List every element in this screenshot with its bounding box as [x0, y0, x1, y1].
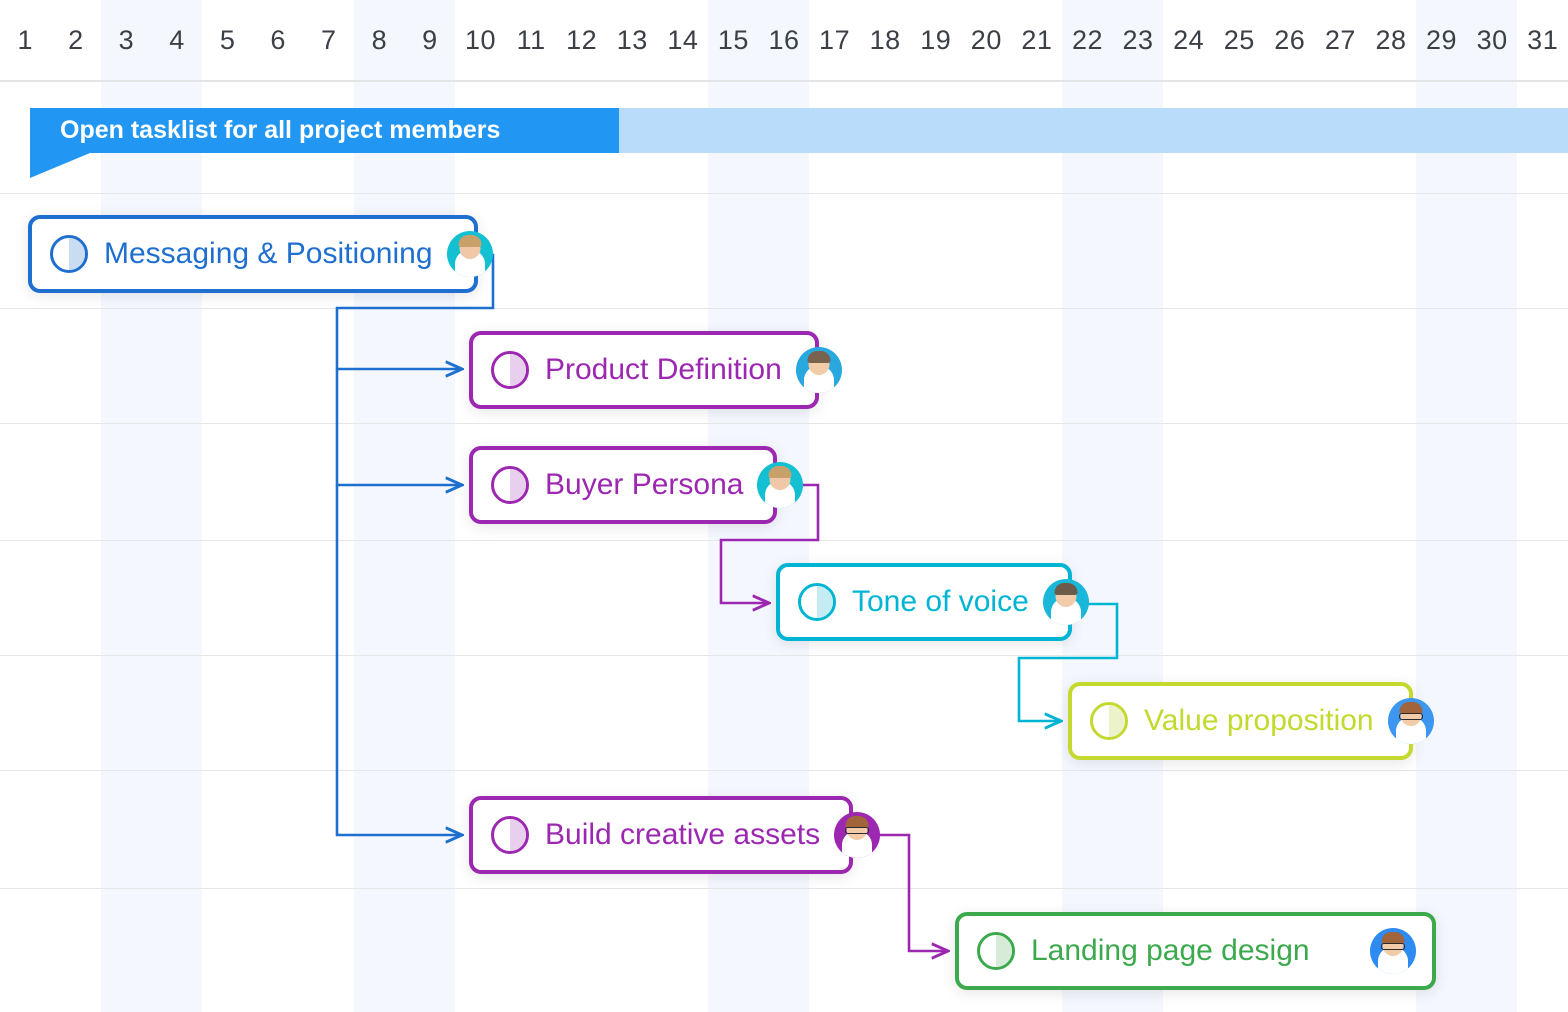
task-label: Landing page design	[1031, 934, 1356, 968]
progress-fill	[69, 238, 85, 270]
avatar-man-beard[interactable]	[1043, 579, 1089, 625]
progress-fill	[510, 354, 526, 386]
date-label-30[interactable]: 30	[1467, 0, 1518, 80]
progress-fill	[996, 935, 1012, 967]
avatar-glasses-icon	[1399, 713, 1423, 720]
task-bar-messaging-positioning[interactable]: Messaging & Positioning	[28, 215, 478, 293]
avatar-hair	[807, 351, 830, 363]
progress-circle-icon	[798, 583, 836, 621]
avatar-hair	[458, 235, 481, 247]
progress-circle-icon	[977, 932, 1015, 970]
date-label-12[interactable]: 12	[556, 0, 607, 80]
date-label-24[interactable]: 24	[1163, 0, 1214, 80]
avatar-glasses-icon	[1381, 943, 1405, 950]
row-divider-1	[0, 193, 1568, 194]
task-label: Product Definition	[545, 353, 782, 387]
date-label-27[interactable]: 27	[1315, 0, 1366, 80]
date-label-6[interactable]: 6	[253, 0, 304, 80]
task-label: Buyer Persona	[545, 468, 743, 502]
progress-fill	[1109, 705, 1125, 737]
avatar-man-beard[interactable]	[796, 347, 842, 393]
task-bar-build-creative-assets[interactable]: Build creative assets	[469, 796, 853, 874]
avatar-woman-blonde[interactable]	[447, 231, 493, 277]
row-divider-2	[0, 308, 1568, 309]
task-label: Tone of voice	[852, 585, 1029, 619]
task-bar-buyer-persona[interactable]: Buyer Persona	[469, 446, 777, 524]
task-bar-value-proposition[interactable]: Value proposition	[1068, 682, 1413, 760]
row-divider-4	[0, 540, 1568, 541]
row-divider-0	[0, 80, 1568, 82]
avatar-glasses-icon	[845, 827, 869, 834]
task-bar-product-definition[interactable]: Product Definition	[469, 331, 819, 409]
date-label-17[interactable]: 17	[809, 0, 860, 80]
row-divider-7	[0, 888, 1568, 889]
date-label-29[interactable]: 29	[1416, 0, 1467, 80]
date-label-26[interactable]: 26	[1265, 0, 1316, 80]
tasklist-banner-solid[interactable]: Open tasklist for all project members	[30, 108, 619, 153]
date-label-19[interactable]: 19	[910, 0, 961, 80]
avatar-man-glasses[interactable]	[1388, 698, 1434, 744]
progress-circle-icon	[1090, 702, 1128, 740]
date-label-3[interactable]: 3	[101, 0, 152, 80]
date-label-28[interactable]: 28	[1366, 0, 1417, 80]
progress-fill	[817, 586, 833, 618]
date-label-9[interactable]: 9	[405, 0, 456, 80]
date-label-1[interactable]: 1	[0, 0, 51, 80]
task-label: Value proposition	[1144, 704, 1374, 738]
avatar-hair	[769, 466, 792, 478]
date-label-10[interactable]: 10	[455, 0, 506, 80]
progress-fill	[510, 469, 526, 501]
progress-circle-icon	[50, 235, 88, 273]
task-label: Build creative assets	[545, 818, 820, 852]
date-label-22[interactable]: 22	[1062, 0, 1113, 80]
avatar-man-glasses[interactable]	[1370, 928, 1416, 974]
date-label-8[interactable]: 8	[354, 0, 405, 80]
row-divider-3	[0, 423, 1568, 424]
date-label-11[interactable]: 11	[506, 0, 557, 80]
date-label-25[interactable]: 25	[1214, 0, 1265, 80]
date-label-14[interactable]: 14	[658, 0, 709, 80]
date-label-31[interactable]: 31	[1517, 0, 1568, 80]
progress-circle-icon	[491, 351, 529, 389]
progress-circle-icon	[491, 466, 529, 504]
date-label-2[interactable]: 2	[51, 0, 102, 80]
date-label-4[interactable]: 4	[152, 0, 203, 80]
date-label-15[interactable]: 15	[708, 0, 759, 80]
progress-fill	[510, 819, 526, 851]
progress-circle-icon	[491, 816, 529, 854]
task-label: Messaging & Positioning	[104, 237, 433, 271]
date-header-row: 1234567891011121314151617181920212223242…	[0, 0, 1568, 80]
date-label-5[interactable]: 5	[202, 0, 253, 80]
tasklist-banner-label: Open tasklist for all project members	[30, 116, 500, 145]
date-label-20[interactable]: 20	[961, 0, 1012, 80]
date-label-18[interactable]: 18	[860, 0, 911, 80]
date-label-21[interactable]: 21	[1012, 0, 1063, 80]
gantt-chart: 1234567891011121314151617181920212223242…	[0, 0, 1568, 1012]
date-label-16[interactable]: 16	[759, 0, 810, 80]
row-divider-6	[0, 770, 1568, 771]
avatar-man-glasses[interactable]	[834, 812, 880, 858]
date-label-23[interactable]: 23	[1113, 0, 1164, 80]
avatar-hair	[1054, 583, 1077, 595]
task-bar-landing-page-design[interactable]: Landing page design	[955, 912, 1436, 990]
tasklist-banner-extension	[619, 108, 1568, 153]
date-label-13[interactable]: 13	[607, 0, 658, 80]
row-divider-5	[0, 655, 1568, 656]
date-label-7[interactable]: 7	[303, 0, 354, 80]
task-bar-tone-of-voice[interactable]: Tone of voice	[776, 563, 1072, 641]
tasklist-banner-tail-icon	[30, 153, 90, 178]
